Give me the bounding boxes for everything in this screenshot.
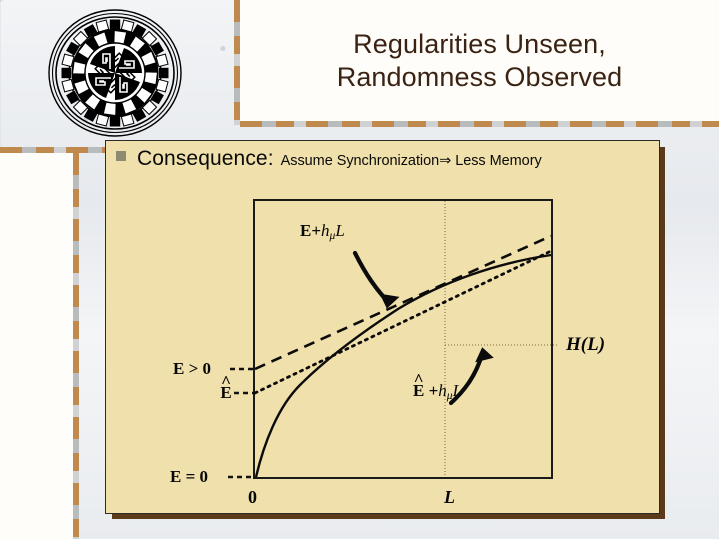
series-E-plus-hmuL	[255, 236, 551, 369]
square-bullet-icon	[116, 151, 126, 161]
series-HL	[256, 255, 551, 477]
chart-plot-svg	[248, 193, 558, 485]
page-title: Regularities Unseen, Randomness Observed	[337, 28, 623, 93]
ytick-label-e-equals-zero: E = 0	[170, 467, 208, 487]
block-entropy-chart: E+hμL ^E +hμL H(L) E > 0 ^E E = 0 0	[248, 193, 558, 485]
bullet-subheading: Assume Synchronization⇒ Less Memory	[281, 153, 542, 169]
xtick-label-origin: 0	[248, 487, 257, 508]
ytick-label-e-greater-zero: E > 0	[173, 359, 211, 379]
label-Ehat-plus-hmuL: ^E +hμL	[413, 381, 462, 402]
ytick-label-e-hat: ^E	[214, 383, 238, 403]
label-E-plus-hmuL: E+hμL	[300, 221, 345, 242]
series-Ehat-plus-hmuL	[255, 251, 551, 393]
xtick-label-L: L	[444, 487, 455, 508]
bullet-row: Consequence: Assume Synchronization⇒ Les…	[116, 147, 542, 171]
anasazi-medallion-logo	[46, 7, 184, 139]
arrow-head-lower	[473, 346, 494, 363]
slide-canvas: Regularities Unseen, Randomness Observed	[0, 0, 719, 539]
bullet-heading: Consequence:	[137, 147, 274, 171]
slide-title-box: Regularities Unseen, Randomness Observed	[240, 0, 719, 121]
trim-horizontal-title-bottom	[240, 121, 719, 127]
left-accent-box	[0, 153, 73, 539]
trim-vertical-left-box	[73, 153, 79, 539]
label-HL: H(L)	[566, 334, 605, 356]
content-panel: Consequence: Assume Synchronization⇒ Les…	[105, 140, 660, 514]
